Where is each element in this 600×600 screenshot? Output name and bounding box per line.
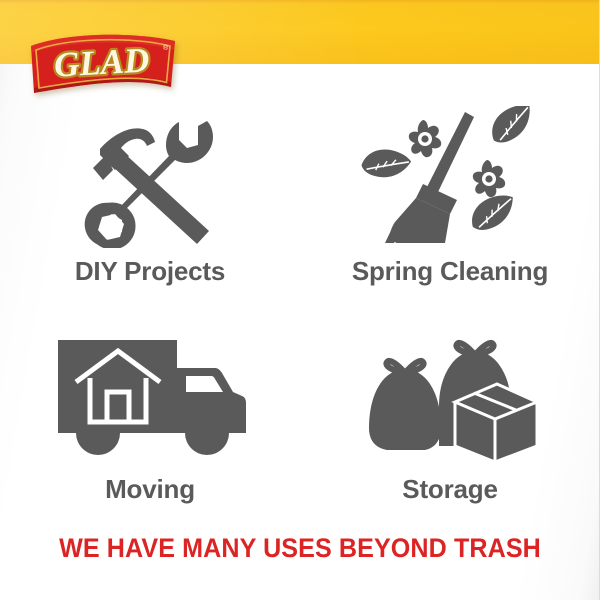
svg-text:GLAD: GLAD [53, 40, 150, 84]
grid-item-storage[interactable]: Storage [300, 314, 600, 524]
broom-flowers-icon [361, 104, 539, 252]
glad-logo: GLAD GLAD ® [28, 33, 178, 96]
moving-truck-icon [52, 320, 248, 470]
tagline: WE HAVE MANY USES BEYOND TRASH [21, 535, 579, 562]
grid-item-label: DIY Projects [75, 258, 225, 284]
grid-item-spring-cleaning[interactable]: Spring Cleaning [300, 104, 600, 314]
uses-grid: DIY Projects [0, 104, 600, 524]
grid-item-moving[interactable]: Moving [0, 314, 300, 524]
grid-item-label: Spring Cleaning [352, 258, 548, 284]
glad-logo-icon: GLAD GLAD ® [28, 33, 178, 96]
grid-item-label: Moving [105, 476, 195, 502]
registered-trademark-icon: ® [163, 44, 169, 52]
grid-item-diy-projects[interactable]: DIY Projects [0, 104, 300, 314]
grid-item-label: Storage [402, 476, 497, 502]
promo-card: GLAD GLAD ® [0, 0, 600, 600]
bags-box-icon [361, 320, 539, 470]
hammer-wrench-icon [69, 104, 231, 252]
